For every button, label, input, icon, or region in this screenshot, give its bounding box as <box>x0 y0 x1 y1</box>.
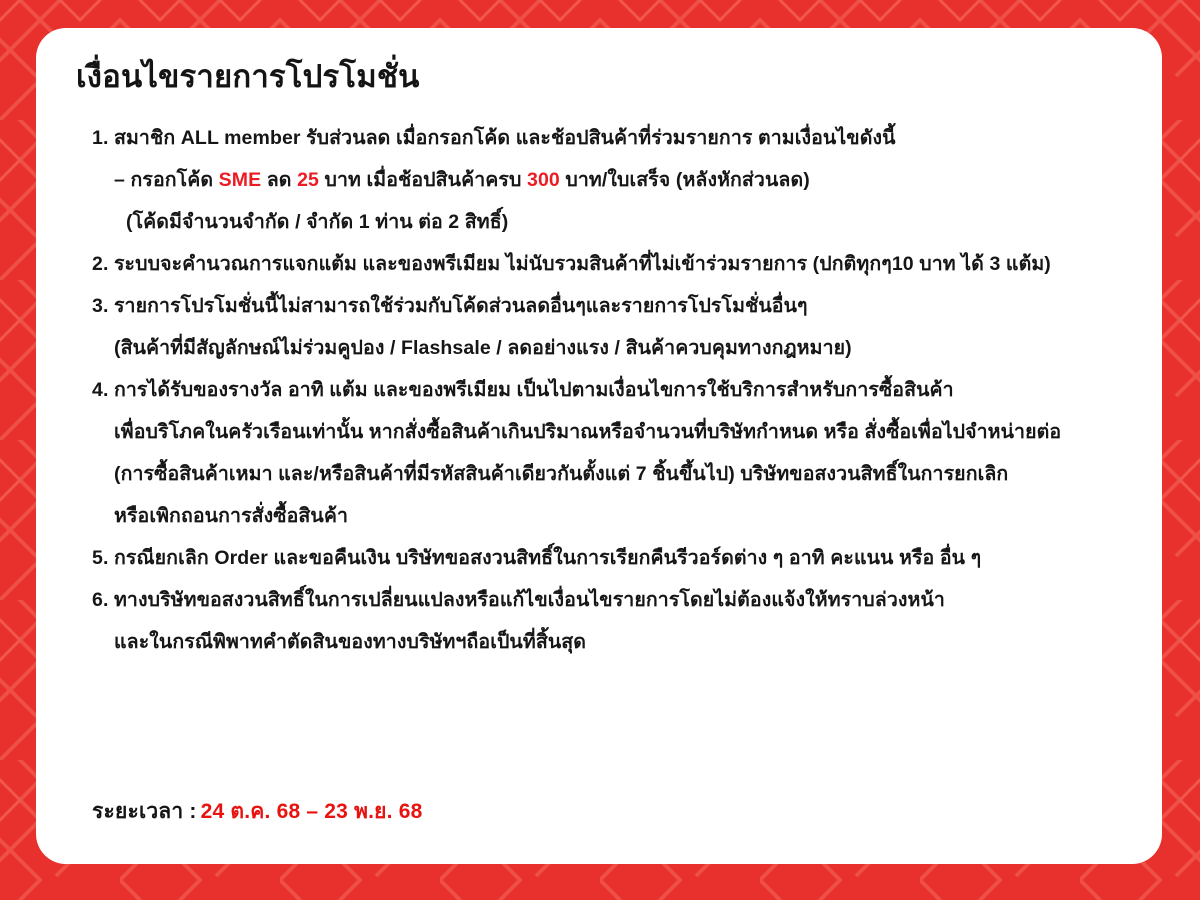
period-value: 24 ต.ค. 68 – 23 พ.ย. 68 <box>201 800 423 823</box>
highlighted-term: 25 <box>297 169 319 191</box>
term-line: 1. สมาชิก ALL member รับส่วนลด เมื่อกรอก… <box>74 117 1124 159</box>
term-text: – กรอกโค้ด <box>114 169 219 191</box>
term-text: หรือเพิกถอนการสั่งซื้อสินค้า <box>114 505 348 527</box>
term-line: 2. ระบบจะคำนวณการแจกแต้ม และของพรีเมียม … <box>74 243 1124 285</box>
term-line: และในกรณีพิพาทคำตัดสินของทางบริษัทฯถือเป… <box>74 621 1124 663</box>
highlighted-term: SME <box>219 169 262 191</box>
term-text: ลด <box>261 169 297 191</box>
term-line: 6. ทางบริษัทขอสงวนสิทธิ์ในการเปลี่ยนแปลง… <box>74 579 1124 621</box>
promotion-terms-card: เงื่อนไขรายการโปรโมชั่น 1. สมาชิก ALL me… <box>36 28 1162 864</box>
term-line: (สินค้าที่มีสัญลักษณ์ไม่ร่วมคูปอง / Flas… <box>74 327 1124 369</box>
term-text: (โค้ดมีจำนวนจำกัด / จำกัด 1 ท่าน ต่อ 2 ส… <box>126 211 508 233</box>
term-text: 5. กรณียกเลิก Order และขอคืนเงิน บริษัทข… <box>92 547 981 569</box>
term-text: เพื่อบริโภคในครัวเรือนเท่านั้น หากสั่งซื… <box>114 421 1061 443</box>
term-text: บาท เมื่อช้อปสินค้าครบ <box>319 169 527 191</box>
term-line: หรือเพิกถอนการสั่งซื้อสินค้า <box>74 495 1124 537</box>
term-line: เพื่อบริโภคในครัวเรือนเท่านั้น หากสั่งซื… <box>74 411 1124 453</box>
promotion-period: ระยะเวลา :24 ต.ค. 68 – 23 พ.ย. 68 <box>92 795 423 828</box>
term-text: 3. รายการโปรโมชั่นนี้ไม่สามารถใช้ร่วมกับ… <box>92 295 808 317</box>
page-title: เงื่อนไขรายการโปรโมชั่น <box>76 58 1124 95</box>
term-line: (การซื้อสินค้าเหมา และ/หรือสินค้าที่มีรห… <box>74 453 1124 495</box>
term-line: 4. การได้รับของรางวัล อาทิ แต้ม และของพร… <box>74 369 1124 411</box>
term-line: 3. รายการโปรโมชั่นนี้ไม่สามารถใช้ร่วมกับ… <box>74 285 1124 327</box>
term-text: (สินค้าที่มีสัญลักษณ์ไม่ร่วมคูปอง / Flas… <box>114 337 852 359</box>
term-line: – กรอกโค้ด SME ลด 25 บาท เมื่อช้อปสินค้า… <box>74 159 1124 201</box>
term-text: 6. ทางบริษัทขอสงวนสิทธิ์ในการเปลี่ยนแปลง… <box>92 589 945 611</box>
term-line: 5. กรณียกเลิก Order และขอคืนเงิน บริษัทข… <box>74 537 1124 579</box>
term-line: (โค้ดมีจำนวนจำกัด / จำกัด 1 ท่าน ต่อ 2 ส… <box>74 201 1124 243</box>
term-text: 1. สมาชิก ALL member รับส่วนลด เมื่อกรอก… <box>92 127 896 149</box>
highlighted-term: 300 <box>527 169 560 191</box>
term-text: (การซื้อสินค้าเหมา และ/หรือสินค้าที่มีรห… <box>114 463 1008 485</box>
term-text: บาท/ใบเสร็จ (หลังหักส่วนลด) <box>560 169 810 191</box>
terms-list: 1. สมาชิก ALL member รับส่วนลด เมื่อกรอก… <box>74 117 1124 663</box>
term-text: 4. การได้รับของรางวัล อาทิ แต้ม และของพร… <box>92 379 954 401</box>
term-text: 2. ระบบจะคำนวณการแจกแต้ม และของพรีเมียม … <box>92 253 1051 275</box>
term-text: และในกรณีพิพาทคำตัดสินของทางบริษัทฯถือเป… <box>114 631 586 653</box>
period-label: ระยะเวลา : <box>92 800 197 823</box>
